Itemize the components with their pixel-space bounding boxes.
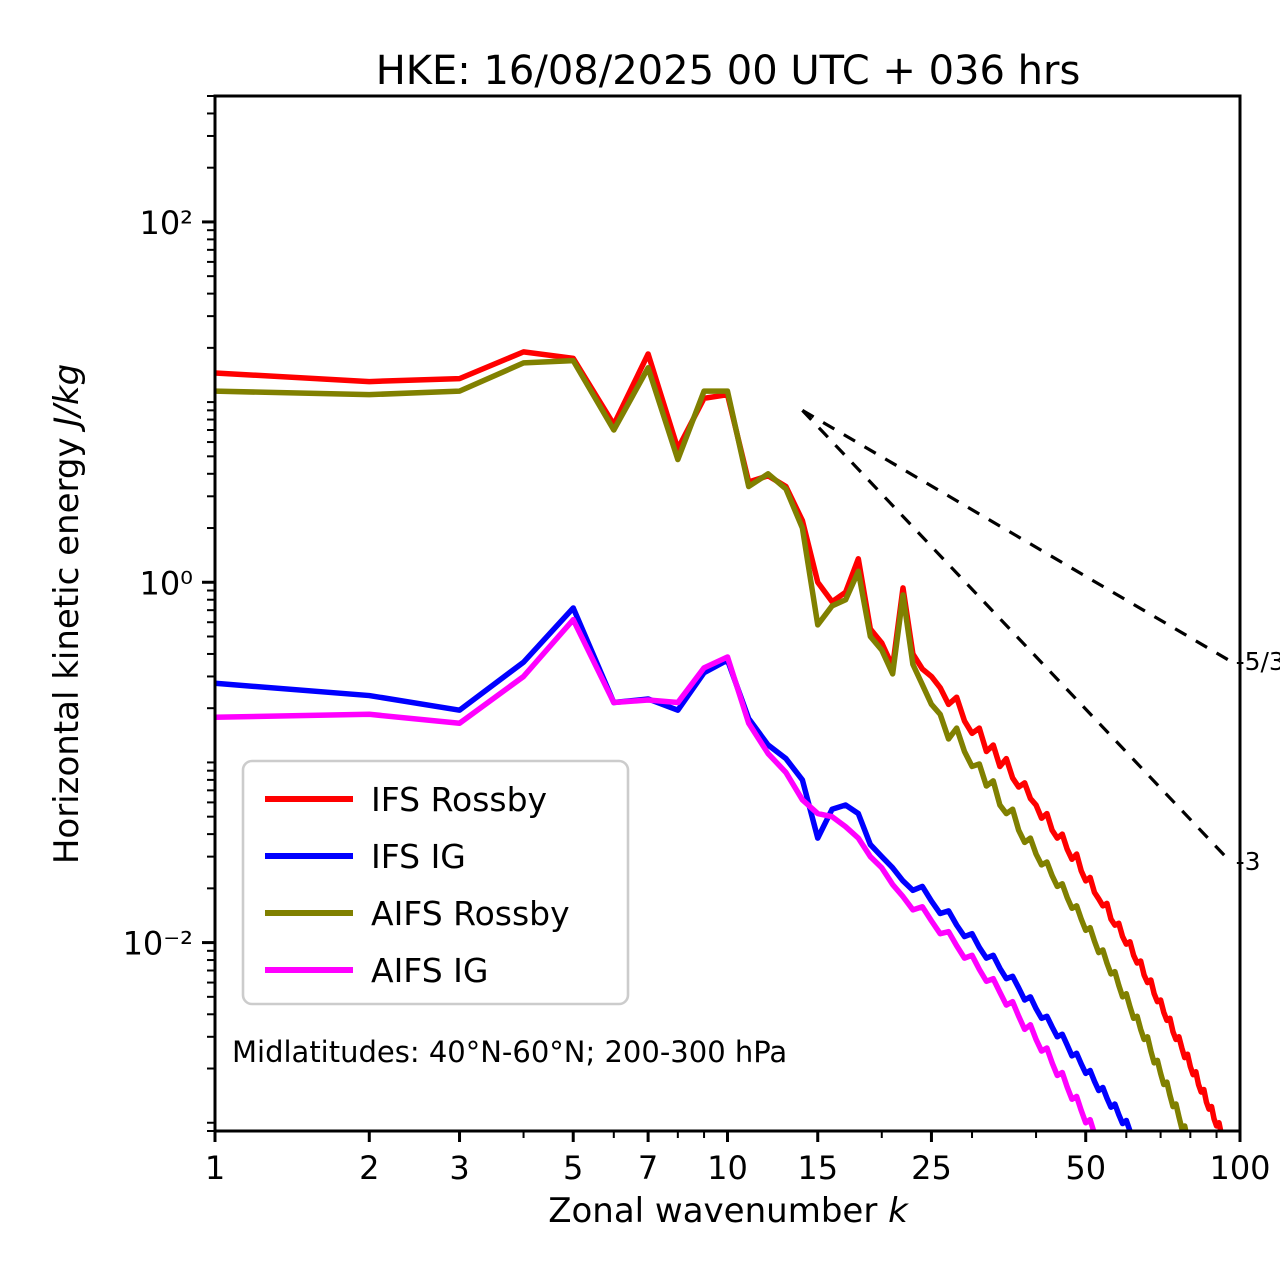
x-tick-label: 100 [1209, 1149, 1270, 1187]
x-tick-label: 25 [911, 1149, 952, 1187]
x-tick-label: 15 [797, 1149, 838, 1187]
region-annotation: Midlatitudes: 40°N-60°N; 200-300 hPa [232, 1035, 787, 1069]
figure-canvas: HKE: 16/08/2025 00 UTC + 036 hrs Horizon… [0, 0, 1280, 1288]
y-tick-label: 10⁻² [123, 925, 193, 963]
legend-label[interactable]: AIFS Rossby [371, 894, 570, 933]
x-tick-label: 5 [563, 1149, 583, 1187]
hke-spectrum-chart: HKE: 16/08/2025 00 UTC + 036 hrs Horizon… [0, 0, 1280, 1288]
legend-label[interactable]: AIFS IG [371, 951, 488, 990]
x-tick-label: 2 [359, 1149, 379, 1187]
page-title: HKE: 16/08/2025 00 UTC + 036 hrs [376, 48, 1081, 94]
x-axis-label: Zonal wavenumber k [548, 1191, 909, 1231]
y-axis-label-plain: Horizontal kinetic energy [47, 427, 87, 865]
slope-label: -5/3 [1236, 647, 1280, 676]
legend-label[interactable]: IFS Rossby [371, 780, 547, 819]
x-axis-label-symbol: k [888, 1191, 909, 1231]
slope-line [802, 410, 1228, 859]
x-tick-label: 10 [707, 1149, 748, 1187]
svg-text:Horizontal kinetic energy J/kg: Horizontal kinetic energy J/kg [47, 364, 87, 864]
svg-text:Zonal wavenumber k: Zonal wavenumber k [548, 1191, 909, 1231]
x-tick-label: 1 [205, 1149, 225, 1187]
x-tick-label: 50 [1065, 1149, 1106, 1187]
y-tick-label: 10⁰ [139, 564, 193, 602]
x-axis-label-plain: Zonal wavenumber [548, 1191, 888, 1231]
y-tick-label: 10² [139, 204, 193, 242]
legend-label[interactable]: IFS IG [371, 837, 466, 876]
y-axis-label: Horizontal kinetic energy J/kg [47, 364, 87, 864]
x-tick-label: 3 [449, 1149, 469, 1187]
x-tick-label: 7 [638, 1149, 658, 1187]
y-axis-label-units: J/kg [47, 364, 87, 433]
axis-ticks: 123571015255010010²10⁰10⁻² [123, 96, 1271, 1187]
chart-legend[interactable]: IFS RossbyIFS IGAIFS RossbyAIFS IG [243, 761, 628, 1004]
